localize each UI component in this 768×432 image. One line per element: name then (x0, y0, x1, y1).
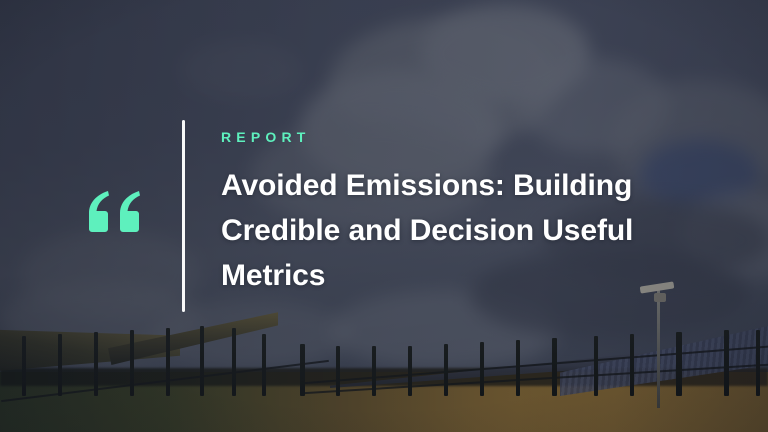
quote-mark-icon (86, 189, 144, 235)
banner-content: REPORT Avoided Emissions: Building Credi… (86, 0, 681, 432)
page-title: Avoided Emissions: Building Credible and… (221, 163, 681, 298)
eyebrow-label: REPORT (221, 130, 681, 144)
report-hero-banner: REPORT Avoided Emissions: Building Credi… (0, 0, 768, 432)
vertical-divider (182, 120, 185, 312)
text-block: REPORT Avoided Emissions: Building Credi… (221, 130, 681, 302)
